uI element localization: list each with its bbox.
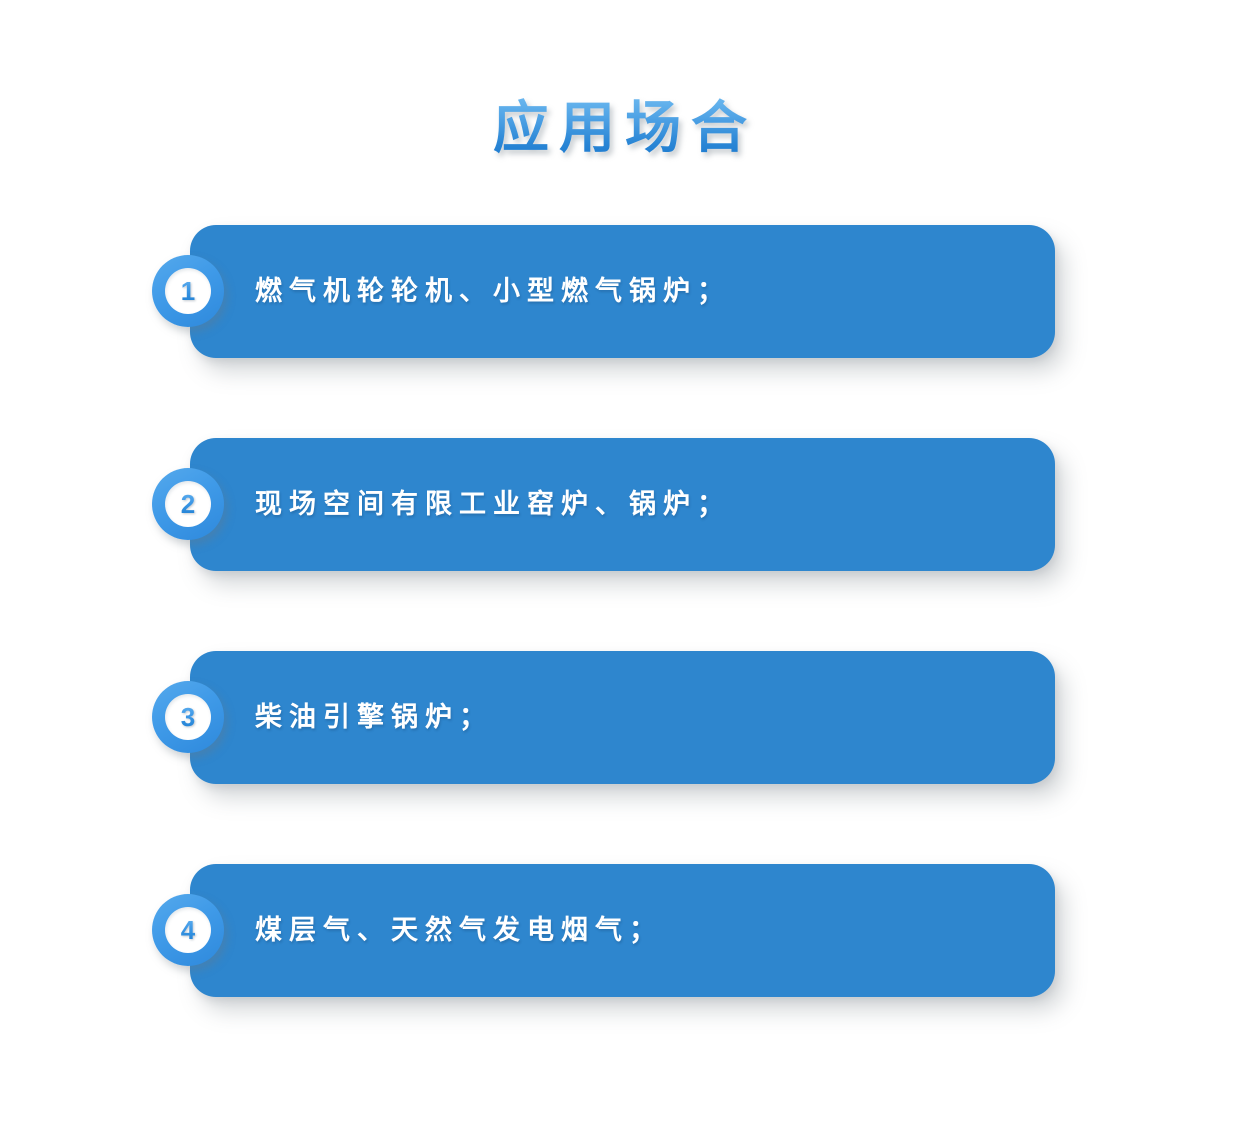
scenario-card[interactable]: 柴油引擎锅炉； [190, 651, 1055, 784]
scenario-card-text: 现场空间有限工业窑炉、锅炉； [255, 487, 731, 522]
scenario-number-badge: 3 [152, 681, 224, 753]
scenario-card-text: 煤层气、天然气发电烟气； [255, 913, 663, 948]
scenario-row: 燃气机轮轮机、小型燃气锅炉； 1 [0, 225, 1240, 358]
scenario-row: 柴油引擎锅炉； 3 [0, 651, 1240, 784]
scenario-row: 煤层气、天然气发电烟气； 4 [0, 864, 1240, 997]
scenario-row: 现场空间有限工业窑炉、锅炉； 2 [0, 438, 1240, 571]
scenario-card[interactable]: 现场空间有限工业窑炉、锅炉； [190, 438, 1055, 571]
badge-number: 1 [181, 278, 195, 304]
badge-inner-circle: 4 [165, 907, 211, 953]
application-scenarios-page: 应用场合 燃气机轮轮机、小型燃气锅炉； 1 现场空间有限工业窑炉、锅炉； 2 [0, 0, 1240, 1131]
scenario-card-text: 燃气机轮轮机、小型燃气锅炉； [255, 274, 731, 309]
scenario-number-badge: 1 [152, 255, 224, 327]
scenario-card[interactable]: 煤层气、天然气发电烟气； [190, 864, 1055, 997]
page-title-container: 应用场合 [0, 58, 1240, 197]
scenario-card-list: 燃气机轮轮机、小型燃气锅炉； 1 现场空间有限工业窑炉、锅炉； 2 柴油引擎锅炉… [0, 225, 1240, 1025]
badge-inner-circle: 1 [165, 268, 211, 314]
badge-number: 4 [181, 917, 195, 943]
badge-number: 3 [181, 704, 195, 730]
scenario-card[interactable]: 燃气机轮轮机、小型燃气锅炉； [190, 225, 1055, 358]
page-title: 应用场合 [483, 96, 757, 160]
badge-inner-circle: 3 [165, 694, 211, 740]
scenario-number-badge: 4 [152, 894, 224, 966]
scenario-card-text: 柴油引擎锅炉； [255, 700, 493, 735]
badge-number: 2 [181, 491, 195, 517]
badge-inner-circle: 2 [165, 481, 211, 527]
scenario-number-badge: 2 [152, 468, 224, 540]
